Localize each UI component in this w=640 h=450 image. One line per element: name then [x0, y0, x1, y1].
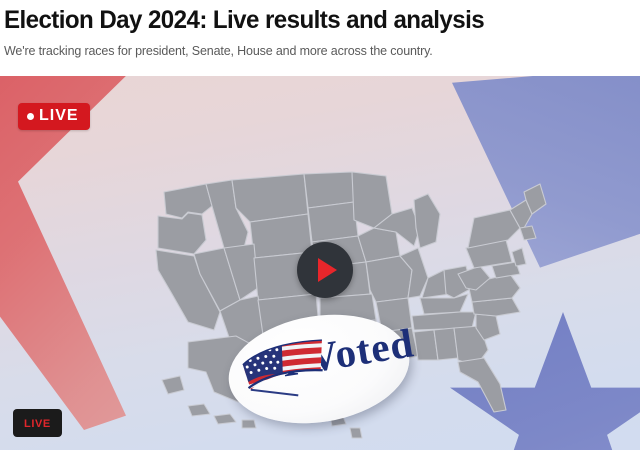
play-button[interactable]	[297, 242, 353, 298]
live-badge-small[interactable]: LIVE	[13, 409, 62, 437]
live-badge-label: LIVE	[39, 108, 79, 124]
page-header: Election Day 2024: Live results and anal…	[0, 0, 640, 76]
live-badge-small-label: LIVE	[24, 418, 51, 430]
page-subtitle: We're tracking races for president, Sena…	[4, 44, 636, 59]
live-badge[interactable]: LIVE	[18, 103, 90, 130]
live-video-hero[interactable]: I Voted	[0, 76, 640, 450]
page-title: Election Day 2024: Live results and anal…	[4, 5, 614, 35]
live-dot-icon	[27, 113, 34, 120]
play-triangle-icon	[318, 258, 337, 282]
election-live-page: Election Day 2024: Live results and anal…	[0, 0, 640, 450]
